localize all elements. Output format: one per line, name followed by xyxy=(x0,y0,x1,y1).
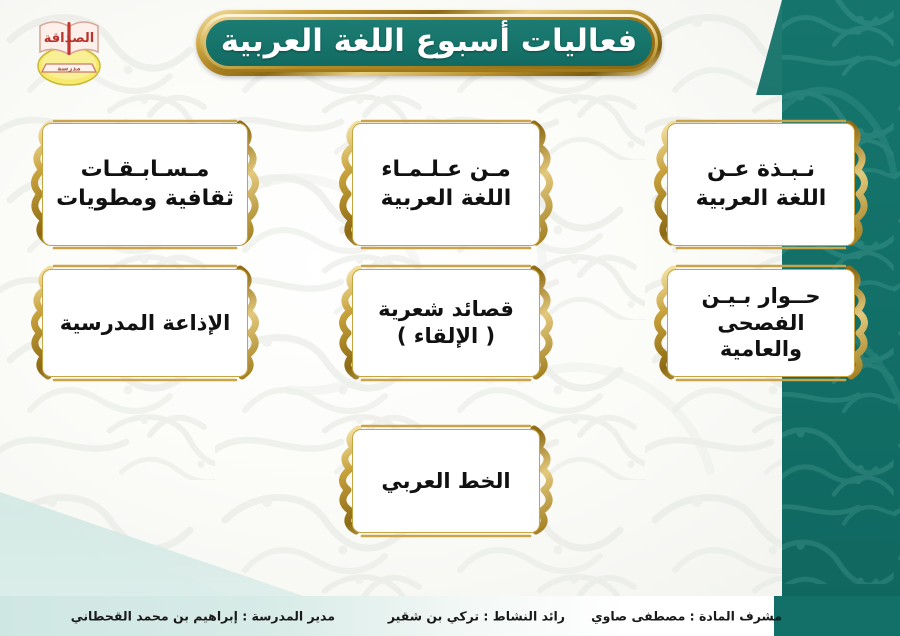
school-emblem-logo: الصداقة مدرسة xyxy=(26,8,112,94)
poster-title: فعاليات أسبوع اللغة العربية xyxy=(196,10,662,76)
svg-text:الصداقة: الصداقة xyxy=(44,31,95,46)
footer-credit-principal: مدير المدرسة : إبراهيم بن محمد القحطاني xyxy=(71,609,335,624)
activity-card-competitions[interactable]: مـسـابـقـات ثقافية ومطويات xyxy=(20,112,270,257)
activity-card-label: نـبـذة عـن اللغة العربية xyxy=(690,156,833,212)
activity-card-school-radio[interactable]: الإذاعة المدرسية xyxy=(20,258,270,388)
footer-credit-activity-leader: رائد النشاط : تركي بن شقير xyxy=(388,609,565,624)
activity-card-about-language[interactable]: نـبـذة عـن اللغة العربية xyxy=(645,112,877,257)
activity-card-label: الإذاعة المدرسية xyxy=(54,310,237,337)
footer-credit-supervisor: مشرف المادة : مصطفى صاوي xyxy=(591,609,782,624)
activity-card-label: حــوار بـيـن الفصحى والعامية xyxy=(668,283,854,364)
svg-text:مدرسة: مدرسة xyxy=(57,65,81,73)
poster-title-text: فعاليات أسبوع اللغة العربية xyxy=(221,26,638,60)
activity-card-label: قصائد شعرية ( الإلقاء ) xyxy=(372,296,520,350)
poster-canvas: الصداقة مدرسة فعاليات أسبوع اللغة العربي… xyxy=(0,0,900,636)
activity-card-label: مـن عـلـمـاء اللغة العربية xyxy=(375,156,518,212)
activity-card-label: مـسـابـقـات ثقافية ومطويات xyxy=(50,156,240,212)
activity-card-dialogue[interactable]: حــوار بـيـن الفصحى والعامية xyxy=(645,258,877,388)
activity-card-calligraphy[interactable]: الخط العربي xyxy=(330,418,562,544)
activity-card-label: الخط العربي xyxy=(375,468,516,495)
activity-card-scholars[interactable]: مـن عـلـمـاء اللغة العربية xyxy=(330,112,562,257)
footer-bar: مشرف المادة : مصطفى صاوي رائد النشاط : ت… xyxy=(0,596,900,636)
activity-card-poems[interactable]: قصائد شعرية ( الإلقاء ) xyxy=(330,258,562,388)
